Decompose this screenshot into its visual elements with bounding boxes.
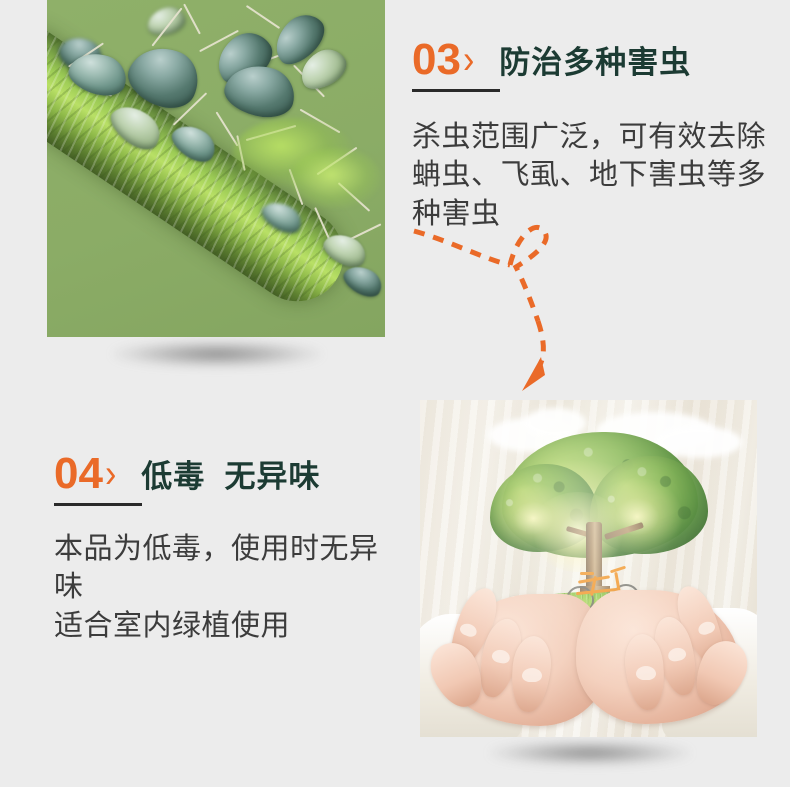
hands-photo-shadow — [490, 741, 690, 765]
arrow-loop-segment — [510, 227, 546, 321]
section-04-text: 04› 低毒 无异味 本品为低毒，使用时无异味 适合室内绿植使用 — [54, 452, 404, 645]
section-title: 低毒 无异味 — [141, 461, 320, 492]
section-number: 03 — [412, 38, 461, 82]
chevron-right-icon: › — [105, 454, 116, 494]
fingernail — [636, 666, 656, 680]
section-03-text: 03› 防治多种害虫 杀虫范围广泛，可有效去除 蚺虫、飞虱、地下害虫等多 种害虫 — [412, 38, 772, 233]
arrow-head-icon — [522, 357, 545, 391]
bicycle-seat — [580, 572, 594, 575]
aphids-on-stem-photo — [47, 0, 385, 337]
section-04-heading-row: 04› 低毒 无异味 — [54, 452, 404, 496]
section-number: 04 — [54, 452, 103, 496]
product-detail-page: 03› 防治多种害虫 杀虫范围广泛，可有效去除 蚺虫、飞虱、地下害虫等多 种害虫… — [0, 0, 790, 800]
section-04-number-group: 04› — [54, 452, 117, 496]
section-title: 防治多种害虫 — [499, 47, 691, 78]
dashed-curved-arrow — [398, 205, 578, 400]
section-number-underline — [54, 503, 142, 506]
stem-highlight — [291, 148, 381, 208]
aphids-photo-shadow — [113, 341, 321, 367]
chevron-right-icon: › — [463, 40, 474, 80]
fingernail — [522, 668, 542, 682]
section-03-number-group: 03› — [412, 38, 475, 82]
hands-holding-tree-photo — [420, 400, 757, 737]
arrow-tail-segment — [414, 231, 510, 265]
section-03-heading-row: 03› 防治多种害虫 — [412, 38, 772, 82]
section-body-text: 本品为低毒，使用时无异味 适合室内绿植使用 — [54, 530, 404, 645]
section-number-underline — [412, 89, 500, 92]
